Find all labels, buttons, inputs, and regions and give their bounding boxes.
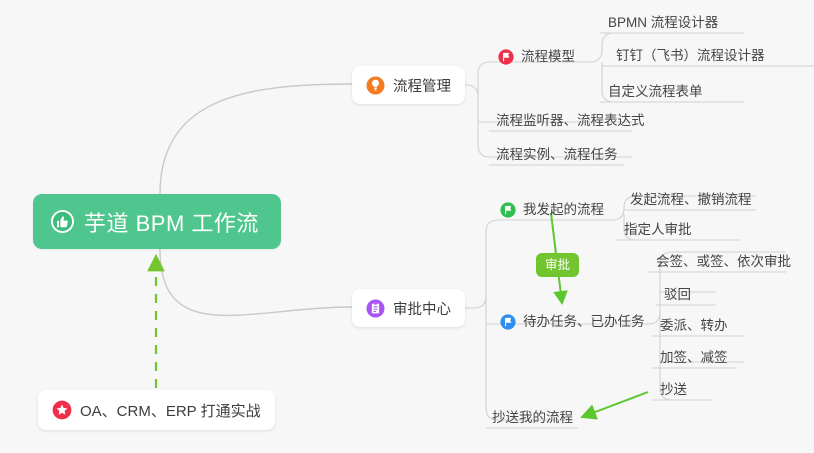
wire-root-to-approval-center [160, 249, 352, 315]
node-label: BPMN 流程设计器 [608, 15, 718, 30]
node-cc-to-me-process[interactable]: 抄送我的流程 [486, 407, 579, 431]
thumbs-up-icon [50, 209, 75, 234]
branch-label: 审批中心 [393, 298, 451, 319]
node-label: 流程监听器、流程表达式 [496, 113, 645, 128]
flag-icon [500, 314, 516, 330]
node-bpmn-designer[interactable]: BPMN 流程设计器 [602, 12, 724, 36]
node-process-model[interactable]: 流程模型 [492, 46, 581, 70]
node-custom-process-form[interactable]: 自定义流程表单 [602, 81, 709, 105]
root-node[interactable]: 芋道 BPM 工作流 [33, 194, 281, 249]
flag-icon [498, 49, 514, 65]
node-process-listener-expression[interactable]: 流程监听器、流程表达式 [490, 110, 651, 134]
node-delegate-transfer[interactable]: 委派、转办 [654, 315, 734, 339]
node-reject[interactable]: 驳回 [658, 284, 697, 308]
wire-ac-to-my-initiated [462, 220, 600, 308]
star-icon [52, 400, 72, 420]
flag-icon [500, 202, 516, 218]
node-cc[interactable]: 抄送 [654, 379, 693, 403]
node-label: 自定义流程表单 [608, 84, 703, 99]
branch-node-process-management[interactable]: 流程管理 [352, 66, 465, 104]
root-label: 芋道 BPM 工作流 [84, 206, 259, 238]
annotation-label: 审批 [545, 258, 570, 272]
node-label: 加签、减签 [660, 350, 728, 365]
floating-node-label: OA、CRM、ERP 打通实战 [80, 400, 261, 421]
arrow-cc-to-cc-to-me [582, 392, 648, 417]
node-label: 驳回 [664, 287, 691, 302]
lightbulb-pin-icon [366, 76, 385, 95]
node-label: 钉钉（飞书）流程设计器 [616, 48, 765, 63]
node-label: 我发起的流程 [523, 201, 604, 219]
node-label: 委派、转办 [660, 318, 728, 333]
node-label: 抄送 [660, 382, 687, 397]
node-label: 指定人审批 [624, 222, 692, 237]
node-label: 待办任务、已办任务 [523, 313, 645, 331]
wire-root-to-process-management [160, 84, 352, 194]
node-label: 会签、或签、依次审批 [656, 254, 791, 269]
node-label: 抄送我的流程 [492, 410, 573, 425]
node-dingtalk-feishu-designer[interactable]: 钉钉（飞书）流程设计器 [610, 45, 771, 69]
node-label: 流程模型 [521, 48, 575, 66]
node-process-instance-task[interactable]: 流程实例、流程任务 [490, 144, 624, 168]
annotation-approve-badge: 审批 [536, 253, 579, 277]
node-my-initiated-process[interactable]: 我发起的流程 [494, 199, 610, 223]
branch-label: 流程管理 [393, 75, 451, 96]
node-assignee-approval[interactable]: 指定人审批 [618, 219, 698, 243]
floating-node-integration-practice[interactable]: OA、CRM、ERP 打通实战 [38, 390, 275, 430]
node-todo-done-tasks[interactable]: 待办任务、已办任务 [494, 311, 651, 335]
node-label: 流程实例、流程任务 [496, 147, 618, 162]
node-add-remove-sign[interactable]: 加签、减签 [654, 347, 734, 371]
clipboard-icon [366, 299, 385, 318]
node-start-cancel-process[interactable]: 发起流程、撤销流程 [624, 189, 758, 213]
node-label: 发起流程、撤销流程 [630, 192, 752, 207]
branch-node-approval-center[interactable]: 审批中心 [352, 289, 465, 327]
node-countersign-orsign-sequential[interactable]: 会签、或签、依次审批 [650, 251, 797, 275]
mindmap-canvas: 芋道 BPM 工作流 流程管理 审批中心 [0, 0, 814, 453]
